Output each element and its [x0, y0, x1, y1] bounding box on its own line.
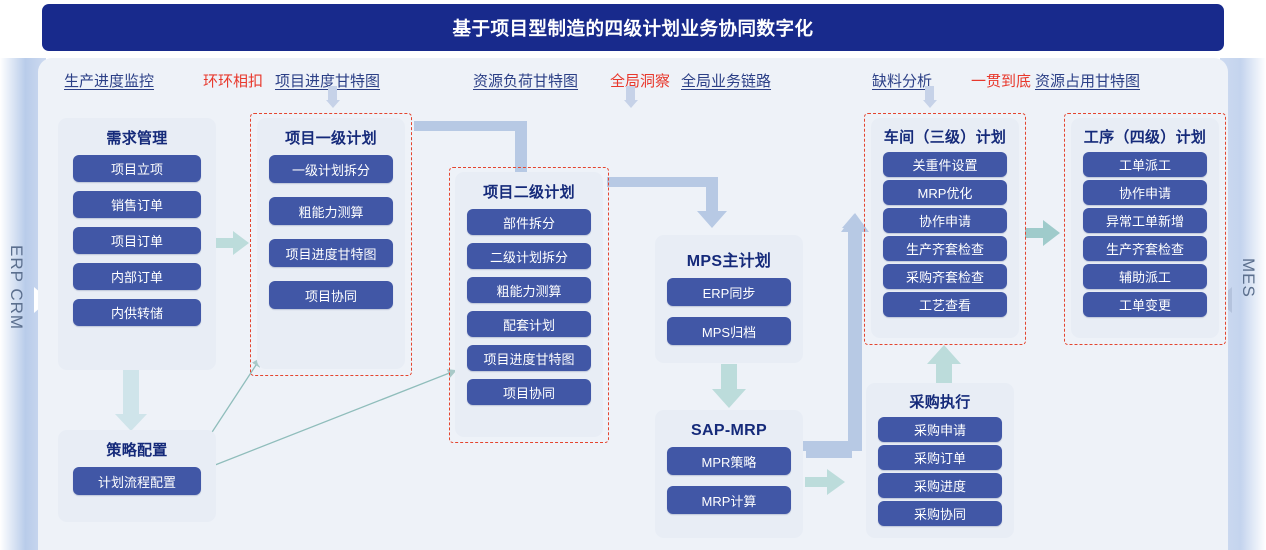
btn-level4-1[interactable]: 协作申请: [1083, 180, 1207, 205]
btn-strategy-0[interactable]: 计划流程配置: [73, 467, 201, 495]
arrow-demand-to-level1: [215, 231, 249, 255]
arrow-level2-to-mps: [607, 177, 727, 228]
btn-level3-3[interactable]: 生产齐套检查: [883, 236, 1007, 261]
group-level4-title: 工序（四级）计划: [1071, 118, 1219, 152]
btn-purchase-0[interactable]: 采购申请: [878, 417, 1002, 442]
group-level4: 工序（四级）计划 工单派工 协作申请 异常工单新增 生产齐套检查 辅助派工 工单…: [1071, 118, 1219, 338]
btn-level3-5[interactable]: 工艺查看: [883, 292, 1007, 317]
btn-purchase-2[interactable]: 采购进度: [878, 473, 1002, 498]
group-level3: 车间（三级）计划 关重件设置 MRP优化 协作申请 生产齐套检查 采购齐套检查 …: [871, 118, 1019, 338]
btn-purchase-3[interactable]: 采购协同: [878, 501, 1002, 526]
btn-level4-4[interactable]: 辅助派工: [1083, 264, 1207, 289]
arrow-sapmrp-to-level3: [798, 213, 869, 458]
group-level3-title: 车间（三级）计划: [871, 118, 1019, 152]
group-strategy: 策略配置 计划流程配置: [58, 430, 216, 522]
btn-mps-1[interactable]: MPS归档: [667, 317, 791, 345]
arrow-mps-to-sapmrp: [712, 364, 746, 408]
group-mps-title: MPS主计划: [655, 235, 803, 278]
group-level1-title: 项目一级计划: [257, 118, 405, 155]
group-sapmrp-title: SAP-MRP: [655, 410, 803, 447]
btn-purchase-1[interactable]: 采购订单: [878, 445, 1002, 470]
arrow-sapmrp-to-purchase: [805, 469, 845, 495]
btn-level1-0[interactable]: 一级计划拆分: [269, 155, 393, 183]
group-demand: 需求管理 项目立项 销售订单 项目订单 内部订单 内供转储: [58, 118, 216, 370]
btn-demand-1[interactable]: 销售订单: [73, 191, 201, 218]
group-mps: MPS主计划 ERP同步 MPS归档: [655, 235, 803, 363]
btn-level2-5[interactable]: 项目协同: [467, 379, 591, 405]
btn-demand-0[interactable]: 项目立项: [73, 155, 201, 182]
diagram-root: ERP CRM MES 基于项目型制造的四级计划业务协同数字化 生产进度监控 环…: [0, 0, 1266, 550]
btn-level4-0[interactable]: 工单派工: [1083, 152, 1207, 177]
btn-level3-0[interactable]: 关重件设置: [883, 152, 1007, 177]
btn-level2-0[interactable]: 部件拆分: [467, 209, 591, 235]
btn-demand-3[interactable]: 内部订单: [73, 263, 201, 290]
btn-level2-1[interactable]: 二级计划拆分: [467, 243, 591, 269]
arrow-demand-to-strategy: [115, 370, 147, 431]
btn-level4-3[interactable]: 生产齐套检查: [1083, 236, 1207, 261]
btn-level4-5[interactable]: 工单变更: [1083, 292, 1207, 317]
arrow-level3-to-level4: [1025, 220, 1060, 246]
btn-level3-2[interactable]: 协作申请: [883, 208, 1007, 233]
btn-level3-1[interactable]: MRP优化: [883, 180, 1007, 205]
btn-level4-2[interactable]: 异常工单新增: [1083, 208, 1207, 233]
btn-sapmrp-0[interactable]: MPR策略: [667, 447, 791, 475]
group-purchase-title: 采购执行: [866, 383, 1014, 417]
btn-level3-4[interactable]: 采购齐套检查: [883, 264, 1007, 289]
group-strategy-title: 策略配置: [58, 430, 216, 467]
btn-demand-4[interactable]: 内供转储: [73, 299, 201, 326]
btn-sapmrp-1[interactable]: MRP计算: [667, 486, 791, 514]
group-level1: 项目一级计划 一级计划拆分 粗能力测算 项目进度甘特图 项目协同: [257, 118, 405, 369]
btn-level2-3[interactable]: 配套计划: [467, 311, 591, 337]
group-purchase: 采购执行 采购申请 采购订单 采购进度 采购协同: [866, 383, 1014, 538]
group-sapmrp: SAP-MRP MPR策略 MRP计算: [655, 410, 803, 538]
arrow-strategy-to-level2: [182, 372, 452, 478]
btn-demand-2[interactable]: 项目订单: [73, 227, 201, 254]
group-demand-title: 需求管理: [58, 118, 216, 155]
group-level2: 项目二级计划 部件拆分 二级计划拆分 粗能力测算 配套计划 项目进度甘特图 项目…: [455, 172, 603, 437]
btn-level1-3[interactable]: 项目协同: [269, 281, 393, 309]
btn-level1-1[interactable]: 粗能力测算: [269, 197, 393, 225]
btn-level2-4[interactable]: 项目进度甘特图: [467, 345, 591, 371]
group-level2-title: 项目二级计划: [455, 172, 603, 209]
btn-level1-2[interactable]: 项目进度甘特图: [269, 239, 393, 267]
btn-level2-2[interactable]: 粗能力测算: [467, 277, 591, 303]
btn-mps-0[interactable]: ERP同步: [667, 278, 791, 306]
